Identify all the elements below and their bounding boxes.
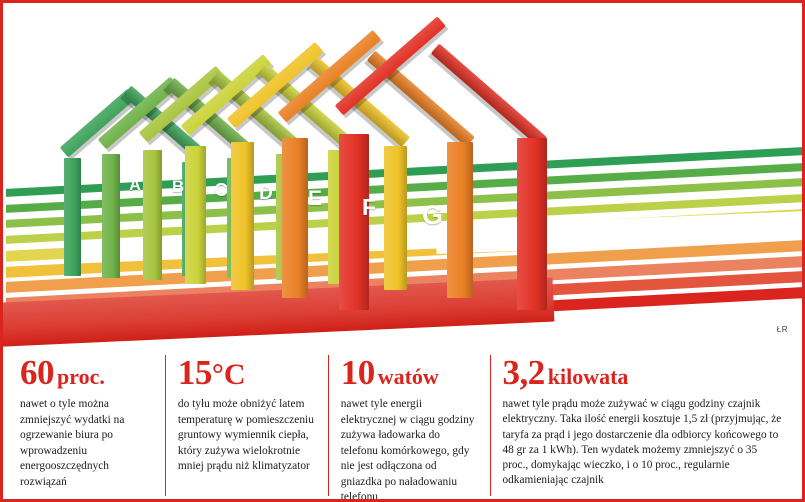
stat-text-1: nawet o tyle można zmniejszyć wydatki na…	[20, 397, 155, 490]
stat-unit-1: proc.	[57, 364, 105, 389]
stat-text-2: do tyłu może obniżyć latem temperaturę w…	[178, 397, 318, 475]
house-pillar-left	[339, 134, 369, 310]
roof-slat-edge	[428, 53, 539, 150]
energy-label-g: G	[422, 202, 442, 229]
energy-label-b: B	[168, 178, 188, 195]
stat-headline-1: 60proc.	[20, 355, 155, 390]
house-pillar-left	[185, 146, 206, 284]
energy-label-f: F	[359, 196, 379, 219]
house-pillar-right	[384, 146, 407, 290]
energy-label-d: D	[256, 184, 276, 203]
stat-number-3: 10	[341, 353, 375, 392]
stat-headline-4: 3,2kilowata	[503, 355, 786, 390]
stats-row: 60proc. nawet o tyle można zmniejszyć wy…	[6, 347, 805, 502]
house-pillar-right	[517, 138, 547, 310]
house-pillar-left	[231, 142, 254, 290]
house-pillar-left	[102, 154, 120, 278]
house-pillar-left	[282, 138, 308, 298]
house-pillar-left	[64, 158, 81, 276]
stat-unit-3: watów	[378, 364, 439, 389]
stat-number-2: 15	[178, 353, 212, 392]
stat-number-4: 3,2	[503, 353, 545, 392]
stat-headline-2: 15°C	[178, 355, 318, 390]
stat-headline-3: 10watów	[341, 355, 480, 390]
infographic-frame: ABCDEFG ŁR 60proc. nawet o tyle można zm…	[0, 0, 805, 502]
stat-text-4: nawet tyle prądu może zużywać w ciągu go…	[503, 397, 786, 489]
energy-label-a: A	[125, 178, 145, 194]
energy-label-e: E	[305, 188, 325, 209]
house-pillar-right	[447, 142, 473, 298]
credit-mark: ŁR	[777, 325, 788, 334]
stat-unit-4: kilowata	[548, 364, 629, 389]
stat-column-2: 15°C do tyłu może obniżyć latem temperat…	[165, 355, 328, 496]
energy-label-c: C	[211, 181, 231, 199]
stat-column-1: 60proc. nawet o tyle można zmniejszyć wy…	[16, 355, 165, 496]
stat-unit-2: °C	[212, 358, 246, 391]
stat-number-1: 60	[20, 353, 54, 392]
stat-text-3: nawet tyle energii elektrycznej w ciągu …	[341, 397, 480, 502]
stat-column-4: 3,2kilowata nawet tyle prądu może zużywa…	[490, 355, 796, 496]
stat-column-3: 10watów nawet tyle energii elektrycznej …	[328, 355, 490, 496]
house-pillar-left	[143, 150, 162, 280]
